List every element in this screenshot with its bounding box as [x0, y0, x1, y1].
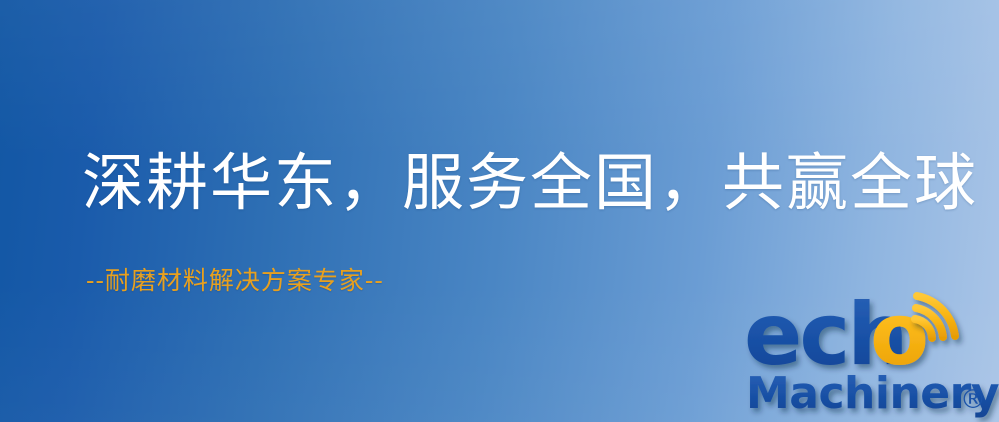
echo-machinery-logo: ech o Machinery ®	[742, 288, 999, 422]
hero-banner: 深耕华东，服务全国，共赢全球 --耐磨材料解决方案专家--	[0, 0, 999, 422]
banner-subtitle: --耐磨材料解决方案专家--	[86, 268, 384, 293]
logo-tagline-group: Machinery ®	[746, 368, 999, 419]
registered-trademark-icon: ®	[960, 385, 986, 415]
banner-headline: 深耕华东，服务全国，共赢全球	[82, 152, 978, 214]
